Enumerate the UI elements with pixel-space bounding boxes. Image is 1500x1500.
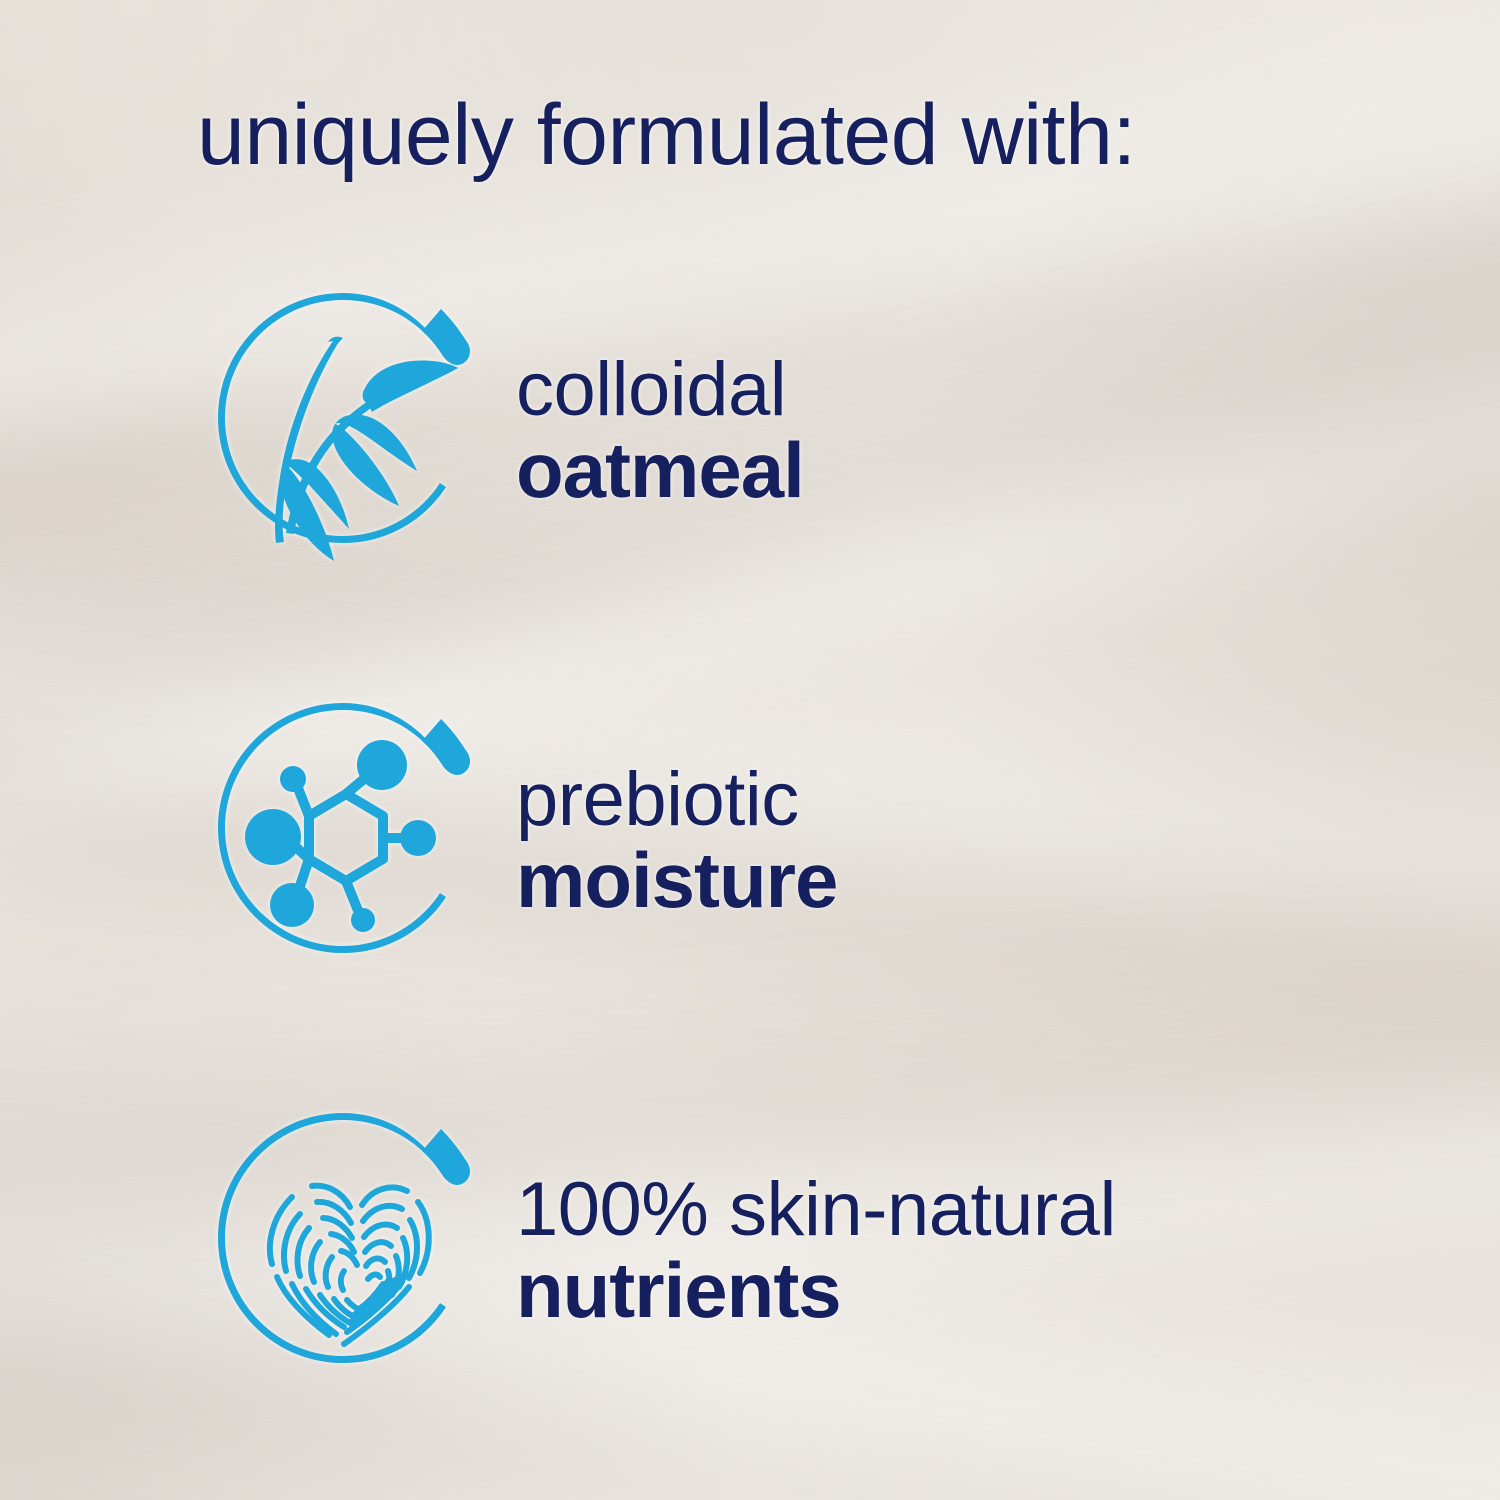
molecule-icon <box>196 691 496 991</box>
infographic-canvas: uniquely formulated with: <box>0 0 1500 1500</box>
benefit-label-nutrients: 100% skin-natural nutrients <box>516 1171 1116 1332</box>
benefit-label-moisture: prebiotic moisture <box>516 761 837 922</box>
benefit-line-bold: nutrients <box>516 1249 1116 1332</box>
page-title: uniquely formulated with: <box>197 92 1377 178</box>
benefit-line-light: prebiotic <box>516 761 837 839</box>
benefit-label-oatmeal: colloidal oatmeal <box>516 351 804 512</box>
benefit-line-bold: oatmeal <box>516 429 804 512</box>
benefit-line-light: 100% skin-natural <box>516 1171 1116 1249</box>
oat-sprig-icon <box>196 281 496 581</box>
benefit-line-light: colloidal <box>516 351 804 429</box>
fingerprint-heart-icon <box>196 1101 496 1401</box>
benefit-row-moisture: prebiotic moisture <box>0 686 1500 996</box>
benefit-row-nutrients: 100% skin-natural nutrients <box>0 1096 1500 1406</box>
benefit-line-bold: moisture <box>516 839 837 922</box>
benefit-row-oatmeal: colloidal oatmeal <box>0 276 1500 586</box>
